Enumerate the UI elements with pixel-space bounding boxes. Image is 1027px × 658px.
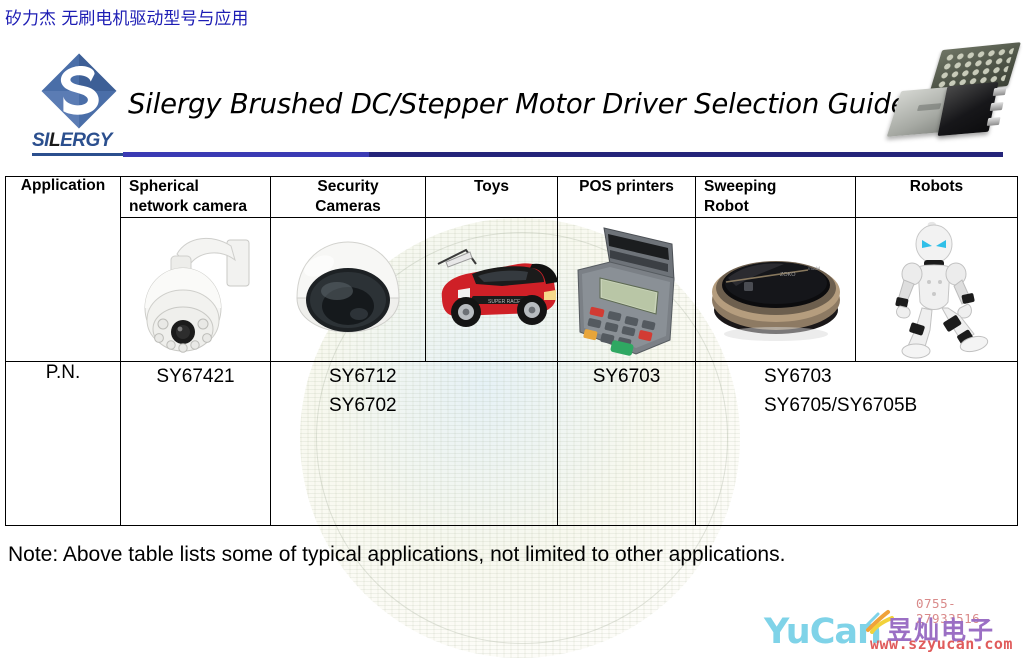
header-line-1: Toys xyxy=(426,177,557,197)
svg-text:SUPER RACE: SUPER RACE xyxy=(488,299,521,305)
sot23-package-image xyxy=(938,82,999,136)
robot-vacuum-image: ZOKO model xyxy=(708,238,844,342)
pn-line-2: SY6702 xyxy=(329,391,557,420)
row-label-pn: P.N. xyxy=(6,361,121,525)
header-line-2: Cameras xyxy=(271,197,425,217)
column-header-pos-printers: POS printers xyxy=(558,177,696,218)
logo-underline xyxy=(32,153,136,156)
header-line-2: Robot xyxy=(704,197,855,217)
rc-toy-car-image: SUPER RACE xyxy=(432,240,560,336)
slide-header: SILERGY Silergy Brushed DC/Stepper Motor… xyxy=(0,44,1027,174)
pn-spherical-camera: SY67421 xyxy=(121,361,271,525)
humanoid-robot-image xyxy=(882,220,994,360)
silergy-wordmark: SILERGY xyxy=(32,130,112,152)
cell-image-robot-vacuum: ZOKO model xyxy=(696,217,856,361)
ptz-dome-camera-image xyxy=(143,224,253,356)
page-title: Silergy Brushed DC/Stepper Motor Driver … xyxy=(128,88,907,120)
column-header-robots: Robots xyxy=(856,177,1018,218)
silergy-diamond-icon xyxy=(40,52,118,130)
svg-text:ZOKO: ZOKO xyxy=(780,272,796,278)
header-line-1: Security xyxy=(271,177,425,197)
watermark-website: www.szyucan.com xyxy=(870,635,1013,653)
row-label-application: Application xyxy=(6,177,121,362)
pos-terminal-image xyxy=(570,222,682,358)
cell-image-spherical-camera xyxy=(121,217,271,361)
cell-image-security-camera xyxy=(271,217,426,361)
header-line-1: POS printers xyxy=(558,177,695,197)
cell-image-pos-terminal xyxy=(558,217,696,361)
svg-text:model: model xyxy=(808,266,820,271)
table-note: Note: Above table lists some of typical … xyxy=(8,543,785,567)
column-header-toys: Toys xyxy=(426,177,558,218)
title-rule-accent xyxy=(123,152,369,157)
table-row-application-images: SUPER RACE xyxy=(6,217,1018,361)
pn-line-2: SY6705/SY6705B xyxy=(764,391,1017,420)
page-chinese-title: 矽力杰 无刷电机驱动型号与应用 xyxy=(5,4,248,29)
header-line-2: network camera xyxy=(129,197,270,217)
pn-pos-printers: SY6703 xyxy=(558,361,696,525)
slide-page: 矽力杰 无刷电机驱动型号与应用 SILERGY Silergy Brushed … xyxy=(0,0,1027,658)
cell-image-humanoid-robot xyxy=(856,217,1018,361)
column-header-sweeping-robot: Sweeping Robot xyxy=(696,177,856,218)
pn-line-1: SY6712 xyxy=(329,362,557,391)
table-row-part-numbers: P.N. SY67421 SY6712 SY6702 SY6703 SY6703… xyxy=(6,361,1018,525)
column-header-security-cameras: Security Cameras xyxy=(271,177,426,218)
chip-package-photos xyxy=(881,46,1021,154)
table-row-header: Application Spherical network camera Sec… xyxy=(6,177,1018,218)
header-line-1: Spherical xyxy=(129,177,270,197)
header-line-1: Sweeping xyxy=(704,177,855,197)
column-header-spherical-network-camera: Spherical network camera xyxy=(121,177,271,218)
pn-robots: SY6703 SY6705/SY6705B xyxy=(696,361,1018,525)
pn-line-1: SY6703 xyxy=(764,362,1017,391)
yucan-watermark: YuCan 0755-27933516 昱灿电子 www.szyucan.com xyxy=(764,594,1019,652)
cell-image-toy-car: SUPER RACE xyxy=(426,217,558,361)
dome-security-camera-image xyxy=(289,236,407,340)
header-line-1: Robots xyxy=(856,177,1017,197)
pn-cameras-toys: SY6712 SY6702 xyxy=(271,361,558,525)
application-selection-table: Application Spherical network camera Sec… xyxy=(5,176,1018,526)
